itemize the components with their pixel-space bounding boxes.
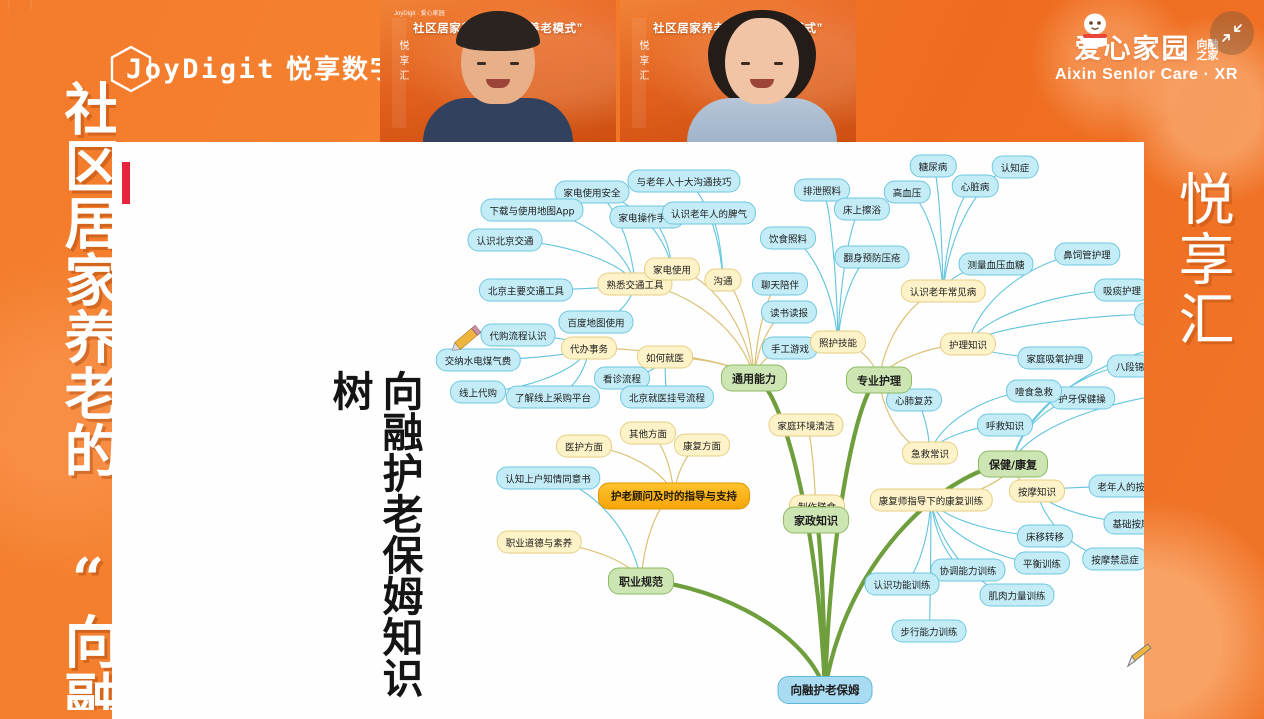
mindmap-node-n25[interactable]: 家庭吸氧护理 — [1017, 347, 1092, 370]
mindmap-node-b03[interactable]: 保健/康复 — [978, 451, 1048, 478]
mindmap-node-n36[interactable]: 读书读报 — [761, 301, 817, 324]
video-tile-strip: JoyDigit · 爱心家园 社区居家养老的“向融养老模式” 悦享汇 社区居家… — [380, 0, 856, 142]
mindmap-node-n44[interactable]: 协调能力训练 — [930, 559, 1005, 582]
mindmap-node-b05[interactable]: 职业规范 — [608, 568, 674, 595]
mindmap-node-n115[interactable]: 医护方面 — [556, 435, 612, 458]
right-banner-title: 悦享汇 — [1164, 170, 1234, 350]
mindmap-node-n39[interactable]: 基础按摩手法 — [1103, 512, 1144, 535]
speaker-tile-2[interactable]: 社区居家养老的“向融养老模式” 悦享汇 — [620, 0, 856, 142]
presentation-screen: JoyDigit 悦享数字 爱心家园 向融 之家 Aixin Senlor Ca… — [0, 0, 1264, 719]
mindmap-node-n30[interactable]: 呼救知识 — [977, 414, 1033, 437]
mindmap-node-n15[interactable]: 床上擦浴 — [834, 198, 890, 221]
mindmap-node-b02[interactable]: 专业护理 — [846, 367, 912, 394]
mindmap-node-n47[interactable]: 认知上户知情同意书 — [496, 467, 600, 490]
mindmap-node-n23[interactable]: 吸痰护理 — [1094, 279, 1144, 302]
mindmap-node-b04[interactable]: 家政知识 — [783, 507, 849, 534]
mindmap-node-n12[interactable]: 认识老年人的脾气 — [662, 202, 756, 225]
mindmap-node-n21[interactable]: 测量血压血糖 — [958, 253, 1033, 276]
mindmap-node-n45[interactable]: 认识功能训练 — [864, 573, 939, 596]
exit-fullscreen-button[interactable] — [1210, 11, 1254, 55]
joydigit-logo: JoyDigit 悦享数字 — [108, 44, 398, 94]
mascot-icon — [1074, 10, 1116, 57]
aixin-logo: 爱心家园 向融 之家 Aixin Senlor Care · XR — [1055, 36, 1238, 84]
mindmap-node-n106[interactable]: 照护技能 — [810, 331, 866, 354]
exit-fullscreen-icon — [1221, 22, 1243, 44]
mindmap-node-n16[interactable]: 翻身预防压疮 — [834, 246, 909, 269]
mindmap-node-n18[interactable]: 高血压 — [884, 181, 931, 204]
mindmap-node-n42[interactable]: 平衡训练 — [1014, 552, 1070, 575]
mindmap-node-n34[interactable]: 北京就医挂号流程 — [620, 386, 714, 409]
mindmap-node-h01[interactable]: 护老顾问及时的指导与支持 — [598, 483, 750, 510]
mindmap-node-n06[interactable]: 代购流程认识 — [480, 324, 555, 347]
mindmap-node-n20[interactable]: 认知症 — [992, 156, 1039, 179]
mindmap-node-n07[interactable]: 交纳水电煤气费 — [436, 349, 521, 372]
tile-mini-logo: JoyDigit · 爱心家园 — [394, 8, 445, 17]
mindmap-node-n02[interactable]: 下载与使用地图App — [480, 199, 583, 222]
mindmap-node-b01[interactable]: 通用能力 — [721, 365, 787, 392]
mindmap-node-n105[interactable]: 如何就医 — [637, 346, 693, 369]
mindmap-node-n11[interactable]: 与老年人十大沟通技巧 — [627, 170, 740, 193]
mindmap-node-n05[interactable]: 百度地图使用 — [558, 311, 633, 334]
mindmap-node-n03[interactable]: 认识北京交通 — [467, 229, 542, 252]
mindmap-node-n08[interactable]: 线上代购 — [450, 381, 506, 404]
mindmap-node-n17[interactable]: 糖尿病 — [910, 155, 957, 178]
mindmap-node-n111[interactable]: 按摩知识 — [1009, 480, 1065, 503]
speaker-tile-1[interactable]: JoyDigit · 爱心家园 社区居家养老的“向融养老模式” 悦享汇 — [380, 0, 616, 142]
tile-vertical-label: 悦享汇 — [396, 40, 410, 85]
mindmap-node-n19[interactable]: 心脏病 — [952, 175, 999, 198]
mindmap-node-n113[interactable]: 家庭环境清洁 — [768, 414, 843, 437]
mindmap-node-n46[interactable]: 步行能力训练 — [891, 620, 966, 643]
mindmap-node-n22[interactable]: 鼻饲管护理 — [1054, 243, 1120, 266]
tile-vertical-label: 悦享汇 — [636, 40, 650, 85]
mindmap-node-n109[interactable]: 急救常识 — [902, 442, 958, 465]
mindmap-node-n09[interactable]: 了解线上采购平台 — [506, 386, 600, 409]
mindmap-node-n107[interactable]: 认识老年常见病 — [901, 280, 986, 303]
mindmap-node-n117[interactable]: 康复方面 — [674, 434, 730, 457]
aixin-sub-line2: 之家 — [1196, 51, 1218, 63]
speaker-2-avatar — [687, 18, 837, 142]
mindmap-node-n116[interactable]: 其他方面 — [620, 422, 676, 445]
mindmap-node-n102[interactable]: 代办事务 — [561, 337, 617, 360]
mindmap-node-n35[interactable]: 聊天陪伴 — [752, 273, 808, 296]
mindmap-node-n43[interactable]: 肌肉力量训练 — [979, 584, 1054, 607]
mindmap-node-n41[interactable]: 床移转移 — [1017, 525, 1073, 548]
mindmap-node-n104[interactable]: 沟通 — [704, 269, 741, 292]
mindmap-node-n38[interactable]: 老年人的按摩部位识别 — [1088, 475, 1144, 498]
mindmap-node-n13[interactable]: 饮食照料 — [760, 227, 816, 250]
mindmap-node-n103[interactable]: 家电使用 — [644, 258, 700, 281]
speaker-1-avatar — [423, 18, 573, 142]
pencil-cursor-icon — [1126, 642, 1152, 668]
mindmap-node-n118[interactable]: 职业道德与素养 — [497, 531, 582, 554]
mindmap-node-n112[interactable]: 康复师指导下的康复训练 — [870, 489, 993, 512]
slide-canvas: 向融护老保姆知识树 家电使用安全下载与使用地图App认识北京交通北京主要交通工具… — [112, 142, 1144, 719]
mindmap-node-n40[interactable]: 按摩禁忌症 — [1082, 548, 1144, 571]
left-banner-title: 社区居家养老的 “向融养老模式” — [44, 80, 116, 710]
mindmap-node-n31[interactable]: 噎食急救 — [1006, 380, 1062, 403]
aixin-english: Aixin Senlor Care · XR — [1055, 66, 1238, 84]
mindmap-node-r01[interactable]: 向融护老保姆 — [778, 676, 873, 704]
mindmap-node-n27[interactable]: 八段锦 — [1107, 355, 1144, 378]
mindmap-node-n108[interactable]: 护理知识 — [940, 333, 996, 356]
mindmap-node-n04[interactable]: 北京主要交通工具 — [479, 279, 573, 302]
